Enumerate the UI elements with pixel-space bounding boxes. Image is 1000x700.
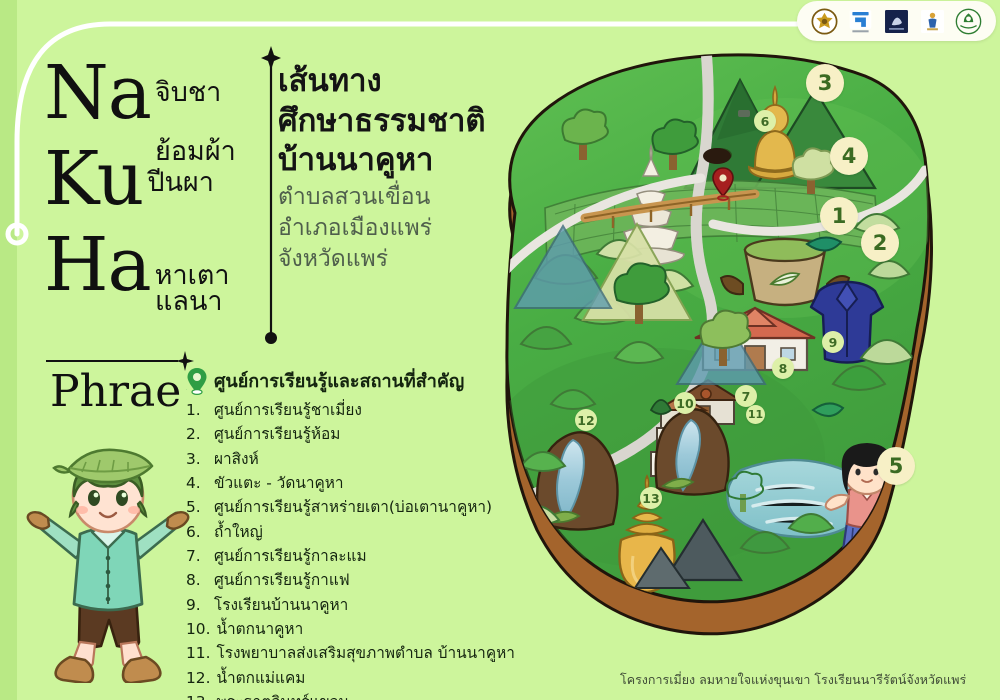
- subtitle-block: เส้นทาง ศึกษาธรรมชาติ บ้านนาคูหา ตำบลสวน…: [278, 62, 486, 274]
- map-marker-2[interactable]: 2: [861, 224, 899, 262]
- title-en-na: Na: [44, 61, 151, 126]
- map-marker-1[interactable]: 1: [820, 197, 858, 235]
- map-pin-icon: [186, 367, 208, 395]
- legend-item-number: 10.: [186, 617, 210, 641]
- legend-item-label: ศูนย์การเรียนรู้สาหร่ายเตา(บ่อเตานาคูหา): [214, 495, 492, 519]
- legend-item-number: 8.: [186, 568, 208, 592]
- subtitle-district: อำเภอเมืองแพร่: [278, 214, 486, 243]
- legend-item: 8.ศูนย์การเรียนรู้กาแฟ: [186, 568, 515, 592]
- map-marker-11[interactable]: 11: [746, 405, 765, 424]
- legend-item-label: ศูนย์การเรียนรู้ห้อม: [214, 422, 340, 446]
- legend-item-label: น้ำตกแม่แคม: [216, 666, 305, 690]
- legend-item: 4.ขัวแตะ - วัดนาคูหา: [186, 471, 515, 495]
- legend-item-number: 13.: [186, 690, 210, 700]
- legend-item: 1.ศูนย์การเรียนรู้ชาเมี่ยง: [186, 398, 515, 422]
- map-marker-12[interactable]: 12: [575, 409, 597, 431]
- legend-item-number: 1.: [186, 398, 208, 422]
- phrae-underline: [46, 360, 178, 362]
- poster-canvas: Na จิบชา Ku ปีนผา Ha หาเตา ย้อมผ้า แลนา …: [0, 0, 1000, 700]
- legend-item: 7.ศูนย์การเรียนรู้กาละแม: [186, 544, 515, 568]
- map-marker-10[interactable]: 10: [674, 392, 696, 414]
- legend-item-number: 6.: [186, 520, 208, 544]
- subtitle-subdistrict: ตำบลสวนเขื่อน: [278, 183, 486, 212]
- legend-item: 13.พระธาตุอินทร์แขวน: [186, 690, 515, 700]
- main-title-block: Na จิบชา Ku ปีนผา Ha หาเตา: [44, 46, 259, 298]
- legend-item-number: 7.: [186, 544, 208, 568]
- legend-item-number: 9.: [186, 593, 208, 617]
- legend-item-label: โรงพยาบาลส่งเสริมสุขภาพตำบล บ้านนาคูหา: [216, 641, 514, 665]
- legend-item-label: ศูนย์การเรียนรู้กาละแม: [214, 544, 367, 568]
- legend-item-number: 4.: [186, 471, 208, 495]
- map-marker-4[interactable]: 4: [830, 137, 868, 175]
- legend-item-label: โรงเรียนบ้านนาคูหา: [214, 593, 348, 617]
- boy-mascot-character: [8, 418, 208, 683]
- legend-heading-text: ศูนย์การเรียนรู้และสถานที่สำคัญ: [214, 366, 464, 395]
- legend-item-label: ถ้ำใหญ่: [214, 520, 263, 544]
- title-line-1: Na จิบชา: [44, 46, 259, 126]
- map-marker-9[interactable]: 9: [822, 331, 844, 353]
- map-marker-3[interactable]: 3: [806, 64, 844, 102]
- phrae-label: Phrae: [50, 366, 181, 417]
- credit-text: โครงการเมี่ยง ลมหายใจแห่งขุนเขา โรงเรียน…: [620, 670, 966, 690]
- legend-item-label: ศูนย์การเรียนรู้กาแฟ: [214, 568, 350, 592]
- legend-item-label: น้ำตกนาคูหา: [216, 617, 303, 641]
- title-en-ha: Ha: [44, 233, 151, 298]
- navy-crest-logo: [883, 8, 910, 35]
- legend-list: 1.ศูนย์การเรียนรู้ชาเมี่ยง2.ศูนย์การเรีย…: [186, 398, 515, 700]
- legend-item: 3.ผาสิงห์: [186, 447, 515, 471]
- title-th-laena: แลนา: [155, 279, 223, 322]
- legend-heading-row: ศูนย์การเรียนรู้และสถานที่สำคัญ: [186, 366, 515, 395]
- title-th-yomhpa: ย้อมผ้า: [155, 129, 236, 172]
- subtitle-line-3: บ้านนาคูหา: [278, 141, 486, 181]
- legend-item-label: ผาสิงห์: [214, 447, 259, 471]
- logo-bar: [797, 1, 996, 41]
- legend-item-number: 2.: [186, 422, 208, 446]
- title-en-ku: Ku: [44, 147, 143, 212]
- legend-item-label: ขัวแตะ - วัดนาคูหา: [214, 471, 344, 495]
- legend-item-label: พระธาตุอินทร์แขวน: [216, 690, 349, 700]
- legend-item: 11.โรงพยาบาลส่งเสริมสุขภาพตำบล บ้านนาคูห…: [186, 641, 515, 665]
- map-marker-6[interactable]: 6: [754, 110, 776, 132]
- legend-block: ศูนย์การเรียนรู้และสถานที่สำคัญ 1.ศูนย์ก…: [186, 366, 515, 700]
- title-line-3: Ha หาเตา: [44, 218, 259, 298]
- legend-item: 12.น้ำตกแม่แคม: [186, 666, 515, 690]
- map-marker-5[interactable]: 5: [877, 447, 915, 485]
- subtitle-province: จังหวัดแพร่: [278, 245, 486, 274]
- legend-item-label: ศูนย์การเรียนรู้ชาเมี่ยง: [214, 398, 362, 422]
- legend-item: 5.ศูนย์การเรียนรู้สาหร่ายเตา(บ่อเตานาคูห…: [186, 495, 515, 519]
- legend-item: 2.ศูนย์การเรียนรู้ห้อม: [186, 422, 515, 446]
- school-seal-logo: [955, 8, 982, 35]
- legend-item-number: 12.: [186, 666, 210, 690]
- legend-item-number: 5.: [186, 495, 208, 519]
- subtitle-line-1: เส้นทาง: [278, 62, 486, 102]
- legend-item-number: 3.: [186, 447, 208, 471]
- legend-item: 6.ถ้ำใหญ่: [186, 520, 515, 544]
- map-marker-7[interactable]: 7: [735, 385, 757, 407]
- blue-square-logo: [847, 8, 874, 35]
- title-th-jibcha: จิบชา: [155, 70, 221, 126]
- subtitle-line-2: ศึกษาธรรมชาติ: [278, 102, 486, 142]
- legend-item: 10.น้ำตกนาคูหา: [186, 617, 515, 641]
- map-marker-13[interactable]: 13: [640, 487, 662, 509]
- legend-item-number: 11.: [186, 641, 210, 665]
- illustrated-map: [455, 28, 1000, 653]
- map-marker-8[interactable]: 8: [772, 357, 794, 379]
- royal-emblem-logo: [811, 8, 838, 35]
- legend-item: 9.โรงเรียนบ้านนาคูหา: [186, 593, 515, 617]
- figure-emblem-logo: [919, 8, 946, 35]
